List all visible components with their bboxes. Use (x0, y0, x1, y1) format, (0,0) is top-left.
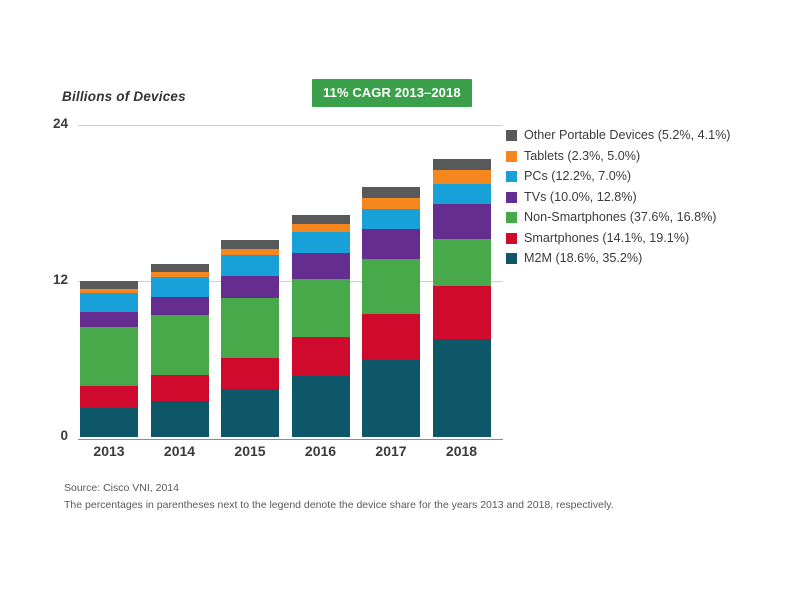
bar-segment-pcs[interactable] (292, 232, 350, 253)
bar-group (78, 125, 503, 437)
bar-segment-other-portable-devices[interactable] (433, 159, 491, 170)
bar-segment-smartphones[interactable] (433, 286, 491, 339)
x-label-2013: 2013 (80, 443, 138, 459)
legend-item-label: Smartphones (14.1%, 19.1%) (524, 231, 689, 246)
x-label-2016: 2016 (292, 443, 350, 459)
bar-segment-m2m[interactable] (292, 376, 350, 437)
legend-item-label: TVs (10.0%, 12.8%) (524, 190, 637, 205)
legend-item[interactable]: Tablets (2.3%, 5.0%) (506, 149, 792, 164)
legend-swatch-icon (506, 192, 517, 203)
legend-item[interactable]: M2M (18.6%, 35.2%) (506, 251, 792, 266)
legend-item[interactable]: Smartphones (14.1%, 19.1%) (506, 231, 792, 246)
legend-swatch-icon (506, 130, 517, 141)
x-label-2017: 2017 (362, 443, 420, 459)
bar-segment-other-portable-devices[interactable] (362, 187, 420, 198)
bar-2014[interactable] (151, 264, 209, 437)
x-label-2018: 2018 (433, 443, 491, 459)
x-label-2015: 2015 (221, 443, 279, 459)
bar-segment-tablets[interactable] (362, 198, 420, 209)
bar-segment-tvs[interactable] (151, 297, 209, 315)
bar-segment-smartphones[interactable] (151, 375, 209, 401)
y-tick-label-24: 24 (34, 116, 68, 131)
bar-segment-m2m[interactable] (362, 360, 420, 437)
legend-swatch-icon (506, 253, 517, 264)
bar-segment-m2m[interactable] (221, 389, 279, 437)
legend-swatch-icon (506, 151, 517, 162)
bar-2016[interactable] (292, 215, 350, 437)
bar-segment-non-smartphones[interactable] (151, 315, 209, 375)
bar-segment-non-smartphones[interactable] (433, 239, 491, 286)
bar-segment-smartphones[interactable] (221, 358, 279, 390)
bar-segment-smartphones[interactable] (292, 337, 350, 375)
bar-segment-tvs[interactable] (362, 229, 420, 259)
legend-item-label: Tablets (2.3%, 5.0%) (524, 149, 640, 164)
legend-swatch-icon (506, 212, 517, 223)
x-axis-baseline (78, 439, 503, 441)
bar-segment-pcs[interactable] (151, 277, 209, 297)
x-label-2014: 2014 (151, 443, 209, 459)
bar-segment-other-portable-devices[interactable] (221, 240, 279, 248)
source-text: Source: Cisco VNI, 2014 (64, 482, 179, 494)
legend-item[interactable]: Non-Smartphones (37.6%, 16.8%) (506, 210, 792, 225)
legend-item[interactable]: TVs (10.0%, 12.8%) (506, 190, 792, 205)
bar-segment-non-smartphones[interactable] (292, 279, 350, 338)
bar-segment-tvs[interactable] (433, 204, 491, 240)
legend-item-label: M2M (18.6%, 35.2%) (524, 251, 642, 266)
bar-segment-non-smartphones[interactable] (362, 259, 420, 314)
bar-segment-non-smartphones[interactable] (80, 327, 138, 386)
bar-segment-other-portable-devices[interactable] (80, 281, 138, 289)
bar-segment-tvs[interactable] (221, 276, 279, 297)
y-tick-label-0: 0 (34, 428, 68, 443)
y-tick-label-12: 12 (34, 272, 68, 287)
footnote-text: The percentages in parentheses next to t… (64, 499, 614, 511)
bar-segment-m2m[interactable] (151, 401, 209, 437)
bar-segment-non-smartphones[interactable] (221, 298, 279, 358)
cagr-badge: 11% CAGR 2013–2018 (312, 79, 472, 107)
bar-segment-other-portable-devices[interactable] (292, 215, 350, 224)
chart-axis-title: Billions of Devices (62, 89, 186, 104)
chart-plot-area: 01224 201320142015201620172018 (78, 125, 503, 440)
legend-item-label: Other Portable Devices (5.2%, 4.1%) (524, 128, 731, 143)
bar-segment-smartphones[interactable] (80, 386, 138, 408)
legend-item-label: PCs (12.2%, 7.0%) (524, 169, 631, 184)
bar-2015[interactable] (221, 240, 279, 437)
legend-swatch-icon (506, 171, 517, 182)
legend-item[interactable]: PCs (12.2%, 7.0%) (506, 169, 792, 184)
legend-item-label: Non-Smartphones (37.6%, 16.8%) (524, 210, 717, 225)
legend-swatch-icon (506, 233, 517, 244)
bar-2017[interactable] (362, 187, 420, 437)
bar-segment-m2m[interactable] (80, 408, 138, 437)
bar-segment-tablets[interactable] (433, 170, 491, 184)
bar-2013[interactable] (80, 281, 138, 437)
bar-segment-pcs[interactable] (80, 293, 138, 312)
bar-segment-tablets[interactable] (292, 224, 350, 233)
bar-segment-tvs[interactable] (292, 253, 350, 278)
legend-item[interactable]: Other Portable Devices (5.2%, 4.1%) (506, 128, 792, 143)
bar-segment-other-portable-devices[interactable] (151, 264, 209, 272)
chart-legend: Other Portable Devices (5.2%, 4.1%)Table… (506, 128, 792, 272)
bar-segment-tvs[interactable] (80, 312, 138, 328)
bar-segment-smartphones[interactable] (362, 314, 420, 360)
bar-segment-pcs[interactable] (221, 255, 279, 276)
bar-segment-m2m[interactable] (433, 339, 491, 437)
slide-canvas: Billions of Devices 11% CAGR 2013–2018 0… (0, 0, 800, 600)
bar-segment-tablets[interactable] (221, 249, 279, 256)
bar-2018[interactable] (433, 159, 491, 437)
bar-segment-pcs[interactable] (362, 209, 420, 229)
bar-segment-pcs[interactable] (433, 184, 491, 204)
